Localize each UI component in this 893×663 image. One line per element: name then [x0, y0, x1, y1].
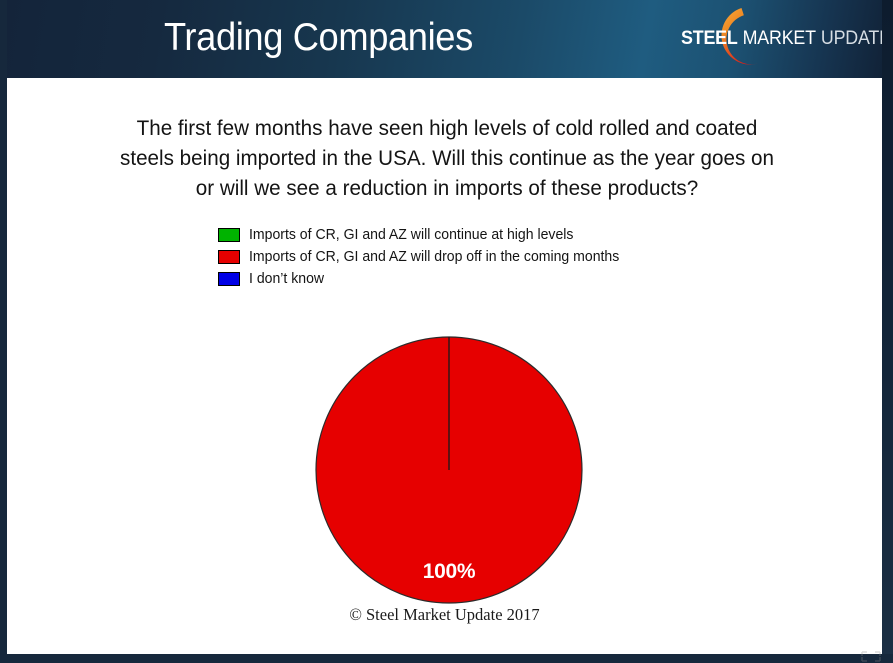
frame-right-edge [882, 0, 893, 663]
page-title: Trading Companies [164, 12, 610, 64]
pie-chart: 100% [309, 330, 589, 610]
logo-word-update: UPDATE [821, 28, 891, 49]
steel-market-update-logo: STEEL MARKET UPDATE [678, 4, 890, 74]
logo-wordmark: STEEL MARKET UPDATE [681, 28, 877, 50]
fullscreen-corner-icon[interactable] [861, 651, 881, 662]
logo-word-market: MARKET [743, 28, 816, 49]
slide-header: Trading Companies STEEL MARKET UPDATE [0, 0, 893, 78]
legend-swatch-icon [218, 250, 240, 264]
legend-item-label: Imports of CR, GI and AZ will drop off i… [249, 248, 619, 266]
copyright-notice: © Steel Market Update 2017 [7, 605, 882, 625]
legend-item: Imports of CR, GI and AZ will drop off i… [218, 246, 738, 268]
chart-legend: Imports of CR, GI and AZ will continue a… [218, 224, 738, 290]
frame-left-edge [0, 0, 7, 663]
logo-word-steel: STEEL [681, 28, 738, 49]
poll-question: The first few months have seen high leve… [111, 113, 783, 203]
legend-item-label: Imports of CR, GI and AZ will continue a… [249, 226, 573, 244]
slide-body: The first few months have seen high leve… [7, 78, 882, 655]
legend-item: Imports of CR, GI and AZ will continue a… [218, 224, 738, 246]
legend-swatch-icon [218, 272, 240, 286]
legend-item-label: I don’t know [249, 270, 324, 288]
pie-slice-value-label: 100% [309, 560, 589, 584]
frame-bottom-edge [0, 654, 893, 663]
legend-item: I don’t know [218, 268, 738, 290]
slide-root: Trading Companies STEEL MARKET UPDATE Th… [0, 0, 893, 663]
legend-swatch-icon [218, 228, 240, 242]
